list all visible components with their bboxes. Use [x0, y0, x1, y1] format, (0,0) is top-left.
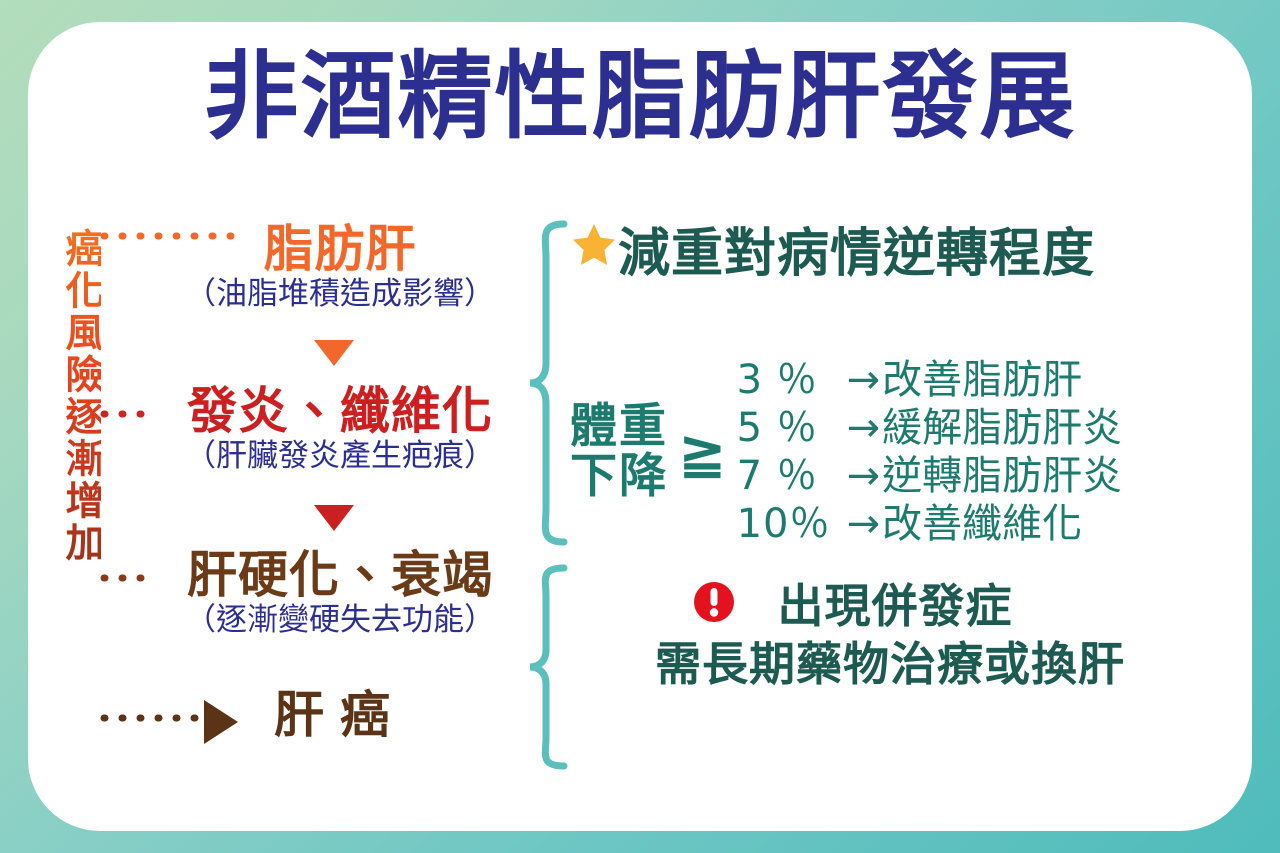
- stage-description: （油脂堆積造成影響）: [140, 277, 540, 313]
- percent-value: 3 ％: [737, 356, 845, 404]
- stage-inflammation-fibrosis: 發炎、纖維化 （肝臟發炎產生疤痕）: [140, 384, 540, 475]
- stage-description: （肝臟發炎產生疤痕）: [140, 439, 540, 475]
- weight-label-line2: 下降: [570, 452, 668, 502]
- stage-name: 發炎、纖維化: [140, 384, 540, 438]
- reversal-list: 3 ％ → 改善脂肪肝 5 ％ → 緩解脂肪肝炎 7 ％ → 逆轉脂肪肝炎 10…: [737, 356, 1123, 548]
- right-arrow-icon: →: [847, 404, 881, 452]
- weight-loss-block: 體重 下降 ≧ 3 ％ → 改善脂肪肝 5 ％ → 緩解脂肪肝炎 7 ％ → 逆…: [570, 356, 1220, 548]
- right-arrow-icon: →: [847, 500, 881, 548]
- outcome-text: 緩解脂肪肝炎: [882, 404, 1122, 452]
- complication-line-1: 出現併發症: [778, 579, 1013, 633]
- complication-line-2: 需長期藥物治療或換肝: [560, 636, 1220, 694]
- percent-value: 10％: [737, 500, 845, 548]
- weight-heading-text: 減重對病情逆轉程度: [618, 224, 1095, 284]
- stage-description: （逐漸變硬失去功能）: [140, 603, 540, 639]
- stage-name: 脂肪肝: [140, 222, 540, 276]
- weight-reversal-heading: 減重對病情逆轉程度: [570, 226, 1220, 283]
- right-arrow-icon: →: [847, 356, 881, 404]
- brace-top: [524, 218, 570, 548]
- stage-name: 肝硬化、衰竭: [140, 548, 540, 602]
- weight-label-line1: 體重: [570, 402, 668, 452]
- weight-reversal-section: 減重對病情逆轉程度: [570, 226, 1220, 283]
- percent-value: 7 ％: [737, 452, 845, 500]
- stage-liver-cancer: 肝癌: [140, 688, 540, 742]
- outcome-text: 逆轉脂肪肝炎: [882, 452, 1122, 500]
- outcome-text: 改善脂肪肝: [882, 356, 1082, 404]
- list-item: 7 ％ → 逆轉脂肪肝炎: [737, 452, 1123, 500]
- stage-cirrhosis-failure: 肝硬化、衰竭 （逐漸變硬失去功能）: [140, 548, 540, 639]
- list-item: 5 ％ → 緩解脂肪肝炎: [737, 404, 1123, 452]
- right-arrow-icon: →: [847, 452, 881, 500]
- infographic-poster: 非酒精性脂肪肝發展 癌化風險逐漸增加 脂肪肝 （油脂堆積造成影響） 發炎、纖維化: [0, 0, 1280, 853]
- exclamation-circle-icon: [692, 580, 736, 624]
- complication-section: 出現併發症 需長期藥物治療或換肝: [560, 578, 1220, 693]
- outcome-text: 改善纖維化: [882, 500, 1082, 548]
- list-item: 10％ → 改善纖維化: [737, 500, 1123, 548]
- weight-loss-label: 體重 下降: [570, 402, 668, 502]
- stage-fatty-liver: 脂肪肝 （油脂堆積造成影響）: [140, 222, 540, 313]
- stage-name: 肝癌: [140, 688, 540, 742]
- complication-line-1-wrapper: 出現併發症: [560, 578, 1220, 636]
- star-icon: [572, 222, 616, 266]
- down-arrow-icon: [314, 340, 354, 366]
- page-title: 非酒精性脂肪肝發展: [0, 48, 1280, 148]
- greater-equal-sign: ≧: [678, 423, 727, 481]
- list-item: 3 ％ → 改善脂肪肝: [737, 356, 1123, 404]
- down-arrow-icon: [314, 505, 354, 531]
- percent-value: 5 ％: [737, 404, 845, 452]
